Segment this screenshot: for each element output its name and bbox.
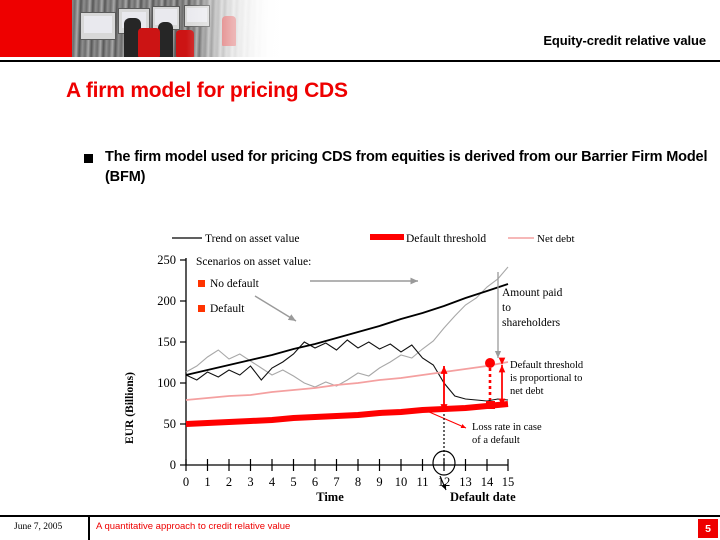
x-tick-12: 12	[438, 475, 451, 489]
x-tick-7: 7	[333, 475, 339, 489]
bullet-square-icon	[84, 154, 93, 163]
page-title: A firm model for pricing CDS	[66, 79, 348, 103]
svg-text:Loss rate in case of a d: Loss rate in case of a default	[472, 422, 544, 446]
slide-header: Equity-credit relative value	[0, 0, 720, 62]
x-tick-14: 14	[481, 475, 494, 489]
svg-text:Default threshold is pro: Default threshold is proportional to net…	[510, 360, 586, 397]
x-tick-15: 15	[502, 475, 515, 489]
x-tick-4: 4	[269, 475, 276, 489]
y-tick-50: 50	[164, 417, 177, 431]
y-axis-label: EUR (Billions)	[124, 372, 136, 444]
x-tick-6: 6	[312, 475, 318, 489]
inset-legend-label-default: Default	[210, 303, 245, 315]
amount-paid-line1: Amount paid	[502, 287, 563, 299]
y-tick-0: 0	[170, 458, 176, 472]
chart-legend: Trend on asset value Default threshold N…	[172, 233, 575, 245]
y-tick-200: 200	[157, 294, 176, 308]
footer-separator	[88, 517, 90, 540]
annotation-loss-rate-note: Loss rate in case of a default	[472, 422, 544, 446]
legend-swatch-threshold	[370, 234, 404, 240]
chart-inset-legend: Scenarios on asset value: No default Def…	[196, 256, 311, 315]
x-tick-11: 11	[416, 475, 428, 489]
bullet-item: The firm model used for pricing CDS from…	[84, 147, 712, 187]
x-tick-2: 2	[226, 475, 232, 489]
trading-floor-photo	[72, 0, 300, 57]
inset-legend-title: Scenarios on asset value:	[196, 256, 311, 268]
loss-rate-line1: Loss rate in case	[472, 422, 542, 433]
threshold-note-line1: Default threshold	[510, 360, 584, 371]
y-tick-250: 250	[157, 253, 176, 267]
brand-red-block	[0, 0, 72, 57]
x-tick-1: 1	[204, 475, 210, 489]
amount-paid-line3: shareholders	[502, 317, 561, 329]
series-default-threshold	[186, 404, 508, 424]
threshold-note-line3: net debt	[510, 386, 544, 397]
header-divider	[0, 60, 720, 62]
chart-axes: 250 200 150 100 50 0 EUR (Billions) 0 1 …	[124, 253, 514, 504]
loss-rate-line2: of a default	[472, 435, 520, 446]
arrow-to-default-scenario	[255, 296, 296, 321]
default-date-label: Default date	[450, 490, 516, 504]
marker-threshold-at-default	[486, 401, 495, 409]
x-tick-0: 0	[183, 475, 189, 489]
svg-text:Amount paid to sha: Amount paid to shareholders	[502, 287, 565, 329]
x-axis-label: Time	[316, 490, 344, 504]
y-tick-150: 150	[157, 335, 176, 349]
inset-legend-label-no-default: No default	[210, 278, 260, 290]
footer-date: June 7, 2005	[14, 522, 62, 532]
asset-value-chart: Trend on asset value Default threshold N…	[0, 218, 720, 508]
bullet-text: The firm model used for pricing CDS from…	[105, 147, 712, 187]
footer-subject: A quantitative approach to credit relati…	[96, 521, 290, 532]
x-tick-9: 9	[376, 475, 382, 489]
x-tick-5: 5	[290, 475, 296, 489]
header-title: Equity-credit relative value	[543, 33, 706, 48]
series-trend-on-asset-value	[186, 284, 508, 375]
x-tick-8: 8	[355, 475, 361, 489]
annotation-default-threshold-note: Default threshold is proportional to net…	[510, 360, 586, 397]
legend-label-threshold: Default threshold	[406, 233, 486, 245]
annotation-amount-paid: Amount paid to shareholders	[502, 287, 565, 329]
x-tick-3: 3	[247, 475, 253, 489]
inset-legend-marker-no-default	[198, 280, 205, 287]
inset-legend-marker-default	[198, 305, 205, 312]
y-tick-100: 100	[157, 376, 176, 390]
series-net-debt	[186, 362, 508, 400]
amount-paid-line2: to	[502, 302, 511, 314]
x-tick-13: 13	[459, 475, 472, 489]
threshold-note-line2: is proportional to	[510, 373, 582, 384]
legend-label-trend: Trend on asset value	[205, 233, 299, 245]
slide-footer: June 7, 2005 A quantitative approach to …	[0, 517, 720, 540]
marker-asset-value-at-default	[485, 358, 495, 368]
x-tick-10: 10	[395, 475, 408, 489]
page-number-badge: 5	[698, 519, 718, 538]
legend-label-netdebt: Net debt	[537, 233, 575, 245]
